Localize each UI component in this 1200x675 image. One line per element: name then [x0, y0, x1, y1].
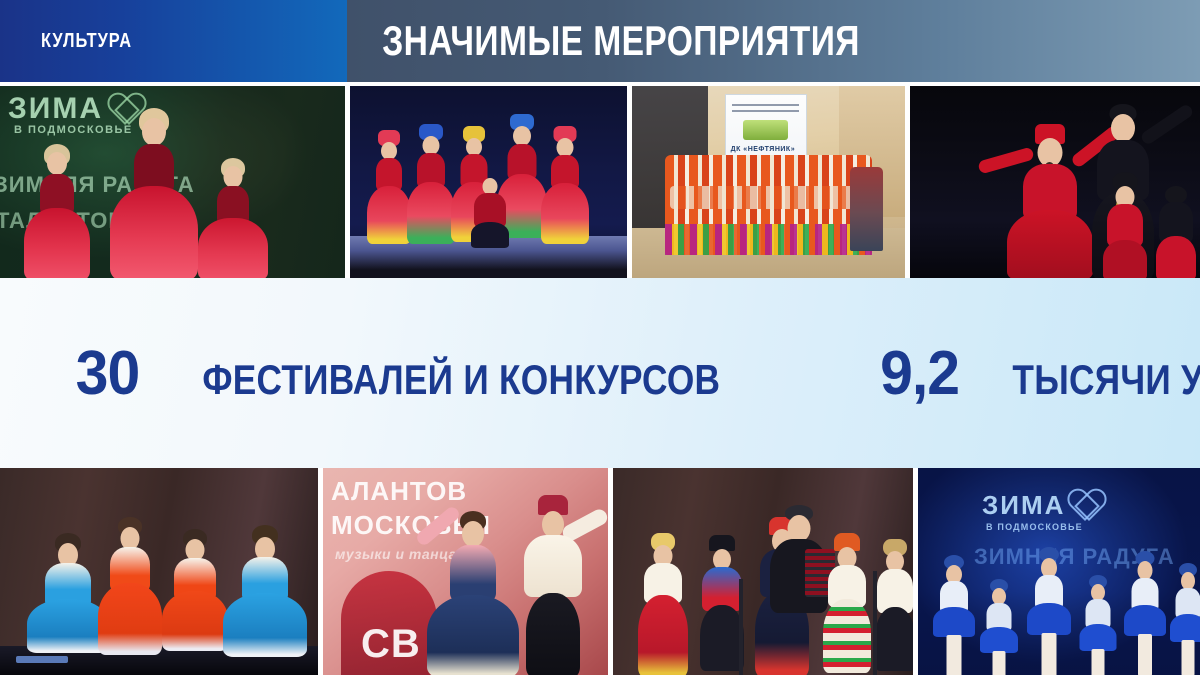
slide-title: ЗНАЧИМЫЕ МЕРОПРИЯТИЯ	[347, 17, 860, 65]
photo-folk-dance-troupe-red	[350, 86, 627, 278]
raised-arm	[414, 505, 461, 548]
backdrop-title-zima: ЗИМА	[8, 92, 103, 126]
ballet-dancer	[976, 579, 1022, 675]
heart-icon	[1068, 490, 1102, 520]
child-singer	[819, 531, 875, 671]
stat-festivals-label: ФЕСТИВАЛЕЙ И КОНКУРСОВ	[202, 356, 720, 404]
ballet-dancer	[1166, 563, 1200, 675]
ballet-dancer	[1022, 547, 1076, 675]
dancer-figure	[540, 126, 590, 244]
performer-figure	[22, 138, 92, 278]
outstretched-arm	[977, 147, 1034, 175]
costume-skirt-stripes	[665, 224, 873, 255]
title-bar: ЗНАЧИМЫЕ МЕРОПРИЯТИЯ	[347, 0, 1200, 82]
male-dancer	[501, 489, 605, 675]
child-singer	[635, 529, 691, 675]
ballet-dancer	[1120, 551, 1170, 675]
slide-header: КУЛЬТУРА ЗНАЧИМЫЕ МЕРОПРИЯТИЯ	[0, 0, 1200, 82]
banner-logo-text: СВ	[361, 622, 421, 667]
photo-children-choir-accordion	[613, 468, 913, 675]
dancer-figure-crouching	[470, 178, 510, 248]
adult-attendee	[850, 167, 883, 251]
dancer-figure	[406, 124, 456, 244]
costume-headscarves	[670, 186, 867, 209]
microphone-stand	[873, 571, 877, 675]
stat-participants-value: 9,2	[880, 338, 959, 409]
dancer-figure	[96, 515, 164, 653]
category-tag: КУЛЬТУРА	[0, 0, 347, 82]
performer-figure	[108, 106, 200, 278]
photo-children-singing: ЗИМА В ПОДМОСКОВЬЕ ЗИМНЯЯ РАДУГА ТАЛАНТО…	[0, 86, 345, 278]
stage-light-strip	[16, 656, 68, 663]
dancer-figure	[222, 523, 308, 655]
stat-festivals-value: 30	[76, 338, 140, 409]
child-dancer	[1152, 186, 1200, 278]
photo-ballet-blue-stage: ЗИМА В ПОДМОСКОВЬЕ ЗИМНЯЯ РАДУГА	[918, 468, 1200, 675]
stat-participants-label: ТЫСЯЧИ УЧАСТНИКОВ	[1012, 356, 1200, 404]
statistics-band: 30 ФЕСТИВАЛЕЙ И КОНКУРСОВ 9,2 ТЫСЯЧИ УЧА…	[0, 278, 1200, 468]
photo-caucasian-dance-duo	[910, 86, 1200, 278]
child-dancer	[1094, 172, 1156, 278]
poster-banner-text: ДК «НЕФТЯНИК»	[731, 146, 796, 153]
photo-folk-dance-blue-red	[0, 468, 318, 675]
screen-subtitle: В ПОДМОСКОВЬЕ	[986, 522, 1083, 532]
stat-festivals: 30 ФЕСТИВАЛЕЙ И КОНКУРСОВ	[74, 338, 770, 409]
photo-group-award-lobby: ДК «НЕФТЯНИК»	[632, 86, 905, 278]
photo-row-top: ЗИМА В ПОДМОСКОВЬЕ ЗИМНЯЯ РАДУГА ТАЛАНТО…	[0, 86, 1200, 278]
category-tag-label: КУЛЬТУРА	[0, 30, 132, 53]
ballet-dancer	[1076, 575, 1120, 675]
performer-figure	[196, 150, 270, 278]
screen-title-zima: ЗИМА	[982, 490, 1065, 521]
ballet-dancer	[928, 555, 980, 675]
dancer-figure	[160, 525, 230, 651]
microphone-stand	[739, 579, 743, 675]
photo-row-bottom: АЛАНТОВ МОСКОВЬЯ музыки и танца СВ	[0, 468, 1200, 675]
stat-participants: 9,2 ТЫСЯЧИ УЧАСТНИКОВ	[878, 338, 1200, 409]
child-singer	[871, 537, 913, 669]
photo-dance-couple-banner: АЛАНТОВ МОСКОВЬЯ музыки и танца СВ	[323, 468, 608, 675]
